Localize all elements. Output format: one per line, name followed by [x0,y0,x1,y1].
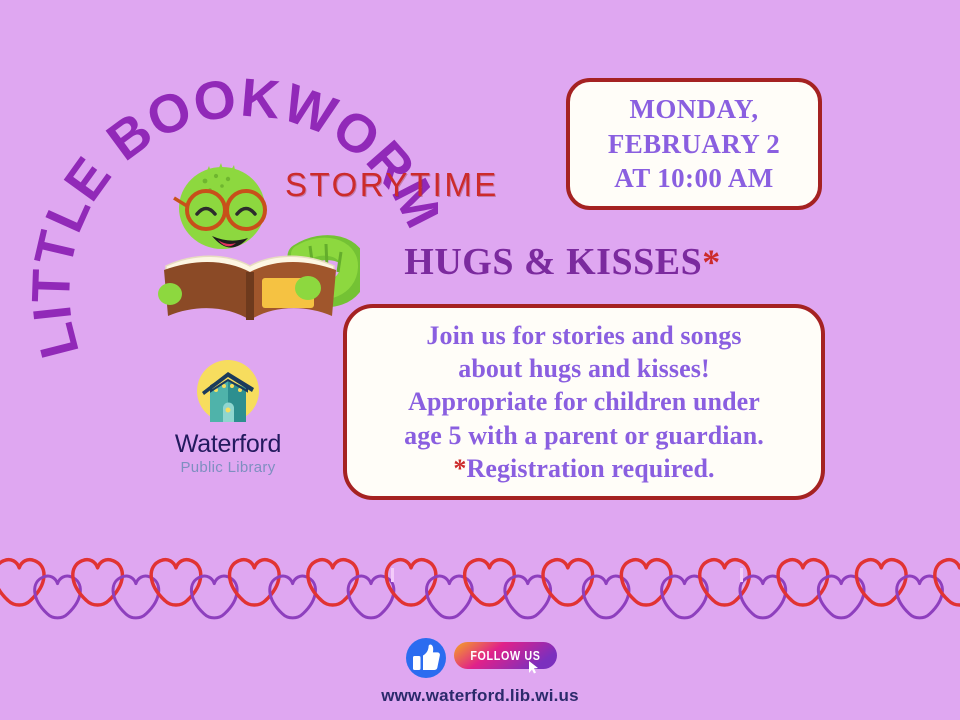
event-title-text: HUGS & KISSES [404,241,702,283]
website-url[interactable]: www.waterford.lib.wi.us [381,686,579,706]
description-card: Join us for stories and songs about hugs… [343,304,825,500]
desc-footnote-asterisk: * [453,454,466,483]
footer: FOLLOW US www.waterford.lib.wi.us [0,636,960,716]
event-title-asterisk: * [702,242,721,282]
desc-footnote-text: Registration required. [466,454,714,483]
thumbs-up-icon[interactable] [404,636,448,680]
social-row: FOLLOW US [404,636,557,680]
date-line-1: MONDAY, [629,92,758,127]
tile-seam-artifact-2 [740,568,743,582]
library-logo: Waterford Public Library [168,358,288,480]
follow-us-badge[interactable]: FOLLOW US [454,641,557,675]
bookworm-mascot-icon [150,148,360,320]
hearts-border-decoration [0,552,960,624]
worm-head [174,163,265,249]
desc-line-1: Join us for stories and songs [426,319,741,352]
date-line-3: AT 10:00 AM [614,161,773,196]
desc-line-2: about hugs and kisses! [458,352,709,385]
desc-line-3: Appropriate for children under [408,385,760,418]
library-building-icon [168,358,288,430]
event-title: HUGS & KISSES* [0,240,960,284]
poster-canvas: LITTLE BOOKWORMS STORYTIME [0,0,960,720]
heart-red [935,560,960,605]
library-subtitle: Public Library [168,459,288,476]
follow-us-label: FOLLOW US [470,649,540,663]
date-line-2: FEBRUARY 2 [608,127,780,162]
date-time-card: MONDAY, FEBRUARY 2 AT 10:00 AM [566,78,822,210]
desc-line-4: age 5 with a parent or guardian. [404,419,764,452]
tile-seam-artifact-1 [391,568,394,582]
desc-footnote: *Registration required. [453,452,714,485]
library-name: Waterford [168,431,288,457]
